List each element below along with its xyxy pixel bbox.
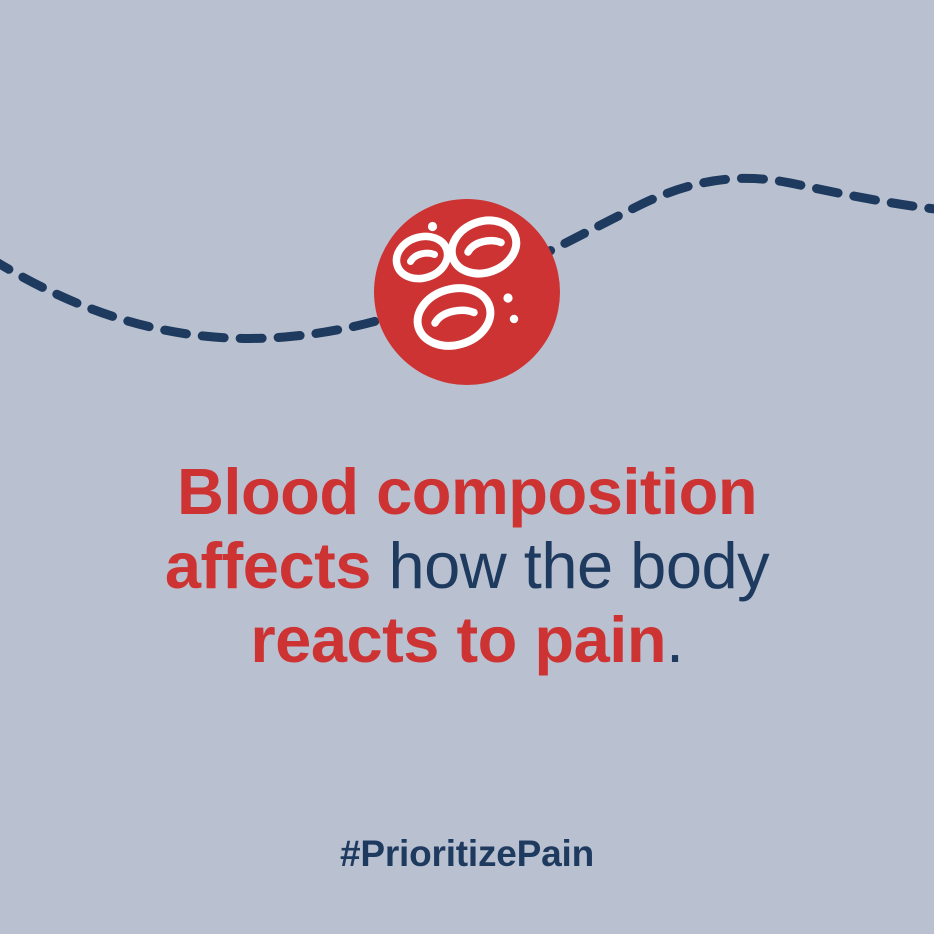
platelet-dot-right-upper <box>503 293 512 302</box>
headline-line-3-red: reacts to pain <box>250 603 666 676</box>
hashtag: #PrioritizePain <box>0 833 934 875</box>
headline-line-2-red: affects <box>165 529 371 602</box>
headline-line-2: affects how the body <box>0 529 934 603</box>
headline-line-1: Blood composition <box>0 455 934 529</box>
headline-line-3: reacts to pain. <box>0 603 934 677</box>
headline-line-2-navy: how the body <box>371 529 769 602</box>
social-card-poster: Blood composition affects how the body r… <box>0 0 934 934</box>
blood-cells-icon-badge <box>374 199 560 385</box>
headline: Blood composition affects how the body r… <box>0 455 934 677</box>
platelet-dot-right-lower <box>510 315 518 323</box>
headline-line-1-red: Blood composition <box>177 455 757 528</box>
headline-line-3-period: . <box>666 603 684 676</box>
platelet-dot-top <box>428 222 437 231</box>
